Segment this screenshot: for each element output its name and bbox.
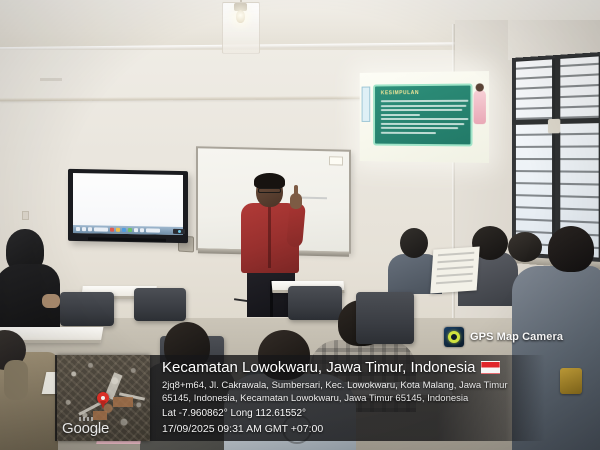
gps-app-label: GPS Map Camera [470,331,563,343]
chair [356,292,414,344]
map-thumbnail[interactable]: Google [57,355,150,441]
coordinates: Lat -7.960862° Long 112.61552° [162,407,542,421]
glasses-icon [258,188,281,193]
address-line-2: 65145, Indonesia, Kecamatan Lowokwaru, J… [162,393,542,406]
display-power-led-icon [178,230,181,233]
window-pane-left [516,59,552,254]
chair [288,286,342,320]
presenter-shirt-placket [268,206,271,268]
whiteboard-scribble [301,197,327,200]
light-bulb-icon [236,10,245,23]
address-line-1: 2jq8+m64, Jl. Cakrawala, Sumbersari, Kec… [162,380,542,393]
interactive-display [68,169,188,243]
paper-sheet [430,246,479,293]
location-info-overlay: Google Kecamatan Lowokwaru, Jawa Timur, … [0,352,600,444]
presenter-hair [254,173,285,189]
slide-left-graphic [362,87,371,122]
gps-map-camera-badge: GPS Map Camera [444,327,563,347]
student-writing-head [400,228,428,258]
map-building [113,397,133,407]
location-title-row: Kecamatan Lowokwaru, Jawa Timur, Indones… [162,358,542,377]
map-pin-icon [97,392,109,404]
display-taskbar [73,225,183,235]
wall-socket [22,211,29,220]
projection-screen: KESIMPULAN [360,71,489,163]
display-screen [73,173,183,235]
slide-title: KESIMPULAN [381,90,419,96]
student-hijab-hand [42,294,60,308]
presenter-pointing-finger [294,185,298,197]
map-building [93,411,107,420]
display-bezel-bar [88,237,166,241]
slide-right-figure [474,89,486,124]
indonesia-flag-icon [481,361,500,374]
window-louvers-left [516,59,552,254]
google-watermark: Google [62,420,109,437]
location-text-block: Kecamatan Lowokwaru, Jawa Timur, Indones… [162,358,542,436]
slide-right-figure-head [476,83,484,91]
aperture-ring-icon [448,331,460,343]
gps-camera-logo-icon [444,327,464,347]
slide-content-panel: KESIMPULAN [373,83,472,146]
location-title: Kecamatan Lowokwaru, Jawa Timur, Indones… [162,358,476,377]
timestamp: 17/09/2025 09:31 AM GMT +07:00 [162,422,542,436]
whiteboard-note [329,156,343,165]
chair [60,292,114,326]
wall-mark [40,78,62,81]
chair [134,288,186,321]
slide-text-lines [381,100,469,137]
student-uniform-head [548,226,594,272]
window-latch-icon [548,119,560,134]
gps-map-camera-photo: KESIMPULAN [0,0,600,450]
student-head [508,232,542,262]
